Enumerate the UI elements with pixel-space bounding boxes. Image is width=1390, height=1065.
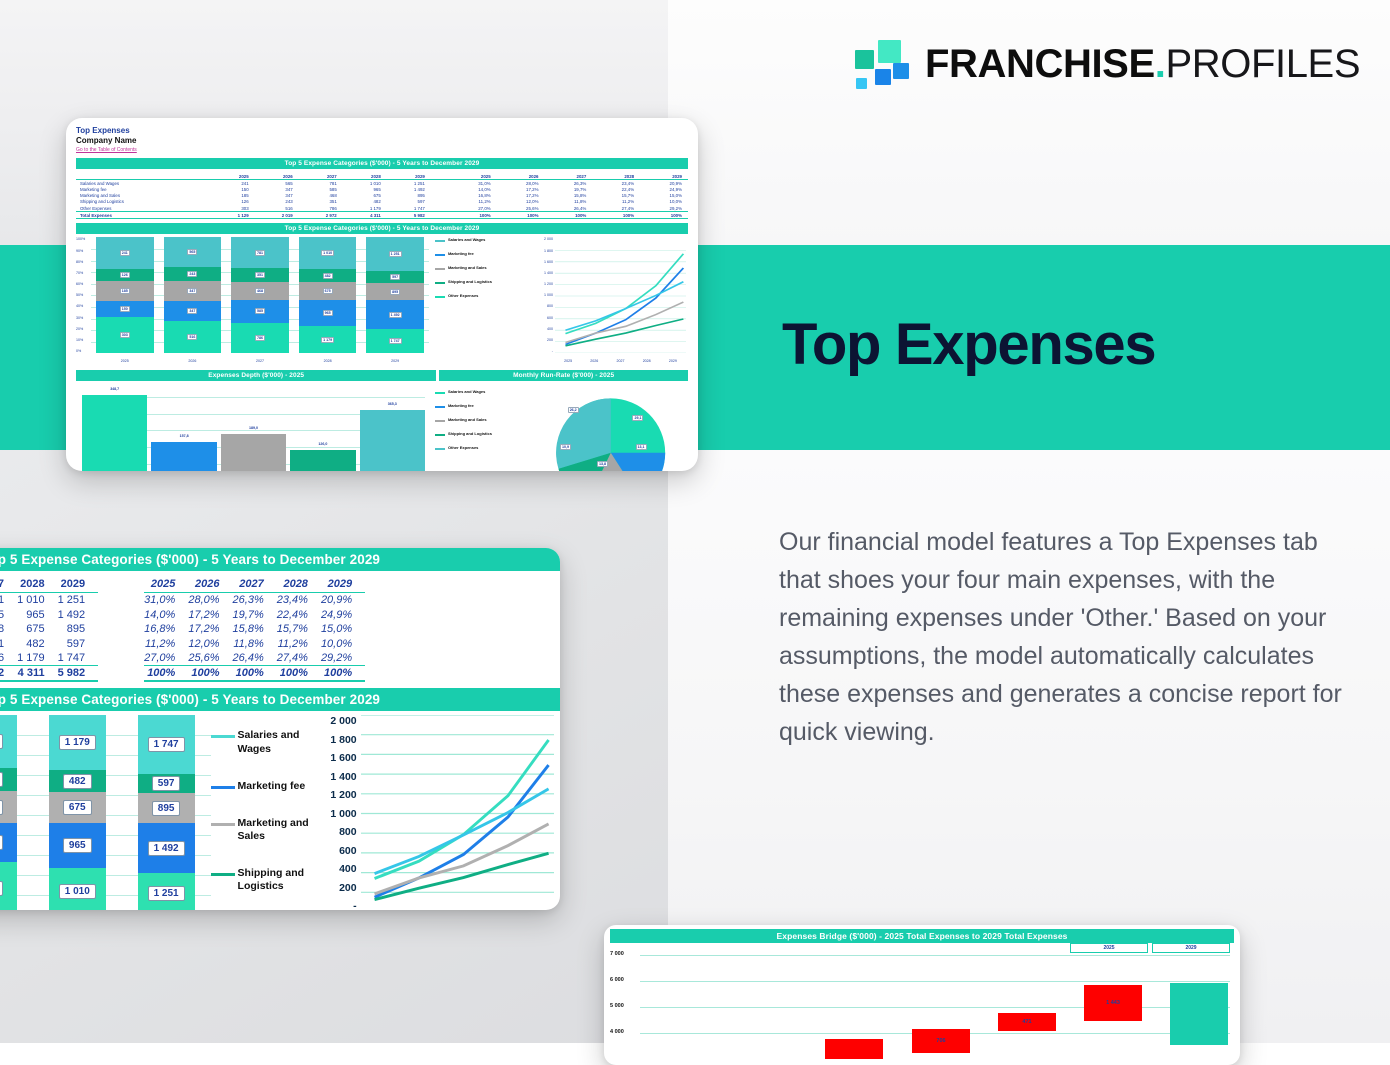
chart-expenses-depth[interactable]: 348,7 157,8 189,0 126,0 365,3 — [76, 383, 431, 471]
pie-value: 26,2 — [568, 407, 579, 413]
table-row: 347468675895 — [0, 622, 98, 636]
segment-value: 597 — [152, 776, 181, 791]
ytick: 70% — [76, 271, 90, 275]
segment-value: 468 — [0, 800, 3, 815]
legend-item[interactable]: Marketing fee — [435, 403, 534, 408]
xtick: 2026 — [581, 359, 607, 363]
segment-value: 1 179 — [321, 337, 334, 343]
ytick: 1 800 — [330, 734, 356, 746]
stacked-bar-column[interactable]: 786 351 468 585 781 — [0, 715, 33, 910]
pie-value: 13,8 — [597, 461, 608, 467]
segment-value: 482 — [323, 273, 333, 279]
segment-value: 781 — [0, 881, 3, 896]
table-row: Other Expenses 303 516 786 1 179 1 747 2… — [76, 205, 688, 212]
ytick: 40% — [76, 304, 90, 308]
legend-item[interactable]: Marketing and Sales — [435, 265, 535, 270]
bar-value: 706 — [912, 1029, 970, 1053]
waterfall-bar[interactable] — [825, 1039, 883, 1059]
stacked-bar-column[interactable]: 241 126 185 150 303 — [91, 237, 159, 353]
segment-value: 1 179 — [59, 735, 96, 750]
waterfall-bar[interactable]: 471 — [998, 1013, 1056, 1031]
bar-value: 471 — [998, 1013, 1056, 1031]
col-2029: 2029 — [58, 577, 99, 593]
segment-value: 675 — [323, 288, 333, 294]
page-title: Top Expenses — [782, 316, 1155, 374]
segment-value: 185 — [120, 288, 130, 294]
xtick: 2025 — [555, 359, 581, 363]
segment-value: 468 — [255, 288, 265, 294]
chart-stacked-percent[interactable]: 100% 90% 80% 70% 60% 50% 40% 30% 20% 10%… — [76, 237, 431, 363]
pct-col-2025: 2025 — [449, 173, 497, 180]
waterfall-bar[interactable]: 706 — [912, 1029, 970, 1053]
legend-item[interactable]: Salaries and Wages — [435, 389, 534, 394]
legend-item[interactable]: Marketing and Sales — [435, 417, 534, 422]
dashboard-screenshot-waterfall[interactable]: Expenses Bridge ($'000) - 2025 Total Exp… — [604, 925, 1240, 1065]
pie-value: 29,1 — [632, 415, 643, 421]
page-description: Our financial model features a Top Expen… — [779, 523, 1349, 751]
stacked-bar-column[interactable]: 565 243 347 347 516 — [159, 237, 227, 353]
legend-swatch-icon — [435, 296, 445, 298]
legend-item[interactable]: Shipping and Logistics — [435, 279, 535, 284]
pie-value: 13,1 — [636, 444, 647, 450]
table-header-row: 2025 2026 2027 2028 2029 — [144, 577, 365, 593]
waterfall-bar[interactable]: 1 443 — [1084, 985, 1142, 1021]
pct-col-2026: 2026 — [497, 173, 545, 180]
legend-label: Shipping and Logistics — [238, 867, 317, 893]
xtick: 2025 — [91, 359, 159, 363]
bar-value: 126,0 — [290, 442, 355, 446]
segment-value: 347 — [187, 308, 197, 314]
sheet-a-title: Top Expenses — [76, 126, 688, 136]
bar-value: 189,0 — [221, 426, 286, 430]
col-2029: 2029 — [321, 577, 365, 593]
segment-value: 895 — [152, 801, 181, 816]
ytick: 800 — [339, 826, 357, 838]
dashboard-screenshot-detail[interactable]: Top 5 Expense Categories ($'000) - 5 Yea… — [0, 548, 560, 910]
segment-value: 126 — [120, 272, 130, 278]
segment-value: 351 — [255, 272, 265, 278]
col-2028: 2028 — [277, 577, 321, 593]
legend-label: Marketing and Sales — [238, 817, 317, 843]
col-2027: 2027 — [233, 577, 277, 593]
col-2027: 2027 — [299, 173, 343, 180]
ytick: 5 000 — [610, 1003, 624, 1009]
table-total-row: Total Expenses 1 129 2 019 2 972 4 311 5… — [76, 212, 688, 219]
xtick: 2028 — [634, 359, 660, 363]
table-row: 5167861 1791 747 — [0, 651, 98, 666]
ytick: 7 000 — [610, 951, 624, 957]
depth-bar[interactable]: 157,8 — [151, 442, 216, 471]
segment-value: 965 — [63, 838, 92, 853]
segment-value: 1 251 — [389, 251, 402, 257]
legend-swatch-icon — [435, 282, 445, 284]
legend-label: Shipping and Logistics — [448, 279, 492, 284]
sheet-b-tables: 2026 2027 2028 2029 5657811 0101 251 347… — [0, 571, 560, 684]
waterfall-bar-total[interactable] — [1170, 983, 1228, 1045]
legend-item[interactable]: Shipping and Logistics — [435, 431, 534, 436]
legend-item[interactable]: Marketing and Sales — [211, 817, 317, 843]
bar-value: 348,7 — [82, 387, 147, 391]
sheet-a-banner-1: Top 5 Expense Categories ($'000) - 5 Yea… — [76, 158, 688, 169]
ytick: 90% — [76, 249, 90, 253]
legend-item[interactable]: Other Expenses — [435, 293, 535, 298]
stacked-bar-column[interactable]: 1 179 482 675 965 1 010 — [33, 715, 122, 910]
logo-square-blue-mid — [875, 69, 891, 85]
segment-value: 965 — [323, 310, 333, 316]
table-header-row: 2026 2027 2028 2029 — [0, 577, 98, 593]
line-chart-detail-svg — [361, 715, 554, 910]
logo-dot: . — [1155, 42, 1166, 86]
col-2029: 2029 — [387, 173, 431, 180]
legend-swatch-icon — [435, 392, 445, 394]
ytick: 20% — [76, 327, 90, 331]
background-top-left — [0, 0, 668, 120]
sheet-a-subtitle: Company Name — [76, 136, 688, 146]
dashboard-screenshot-overview[interactable]: Top Expenses Company Name Go to the Tabl… — [66, 118, 698, 471]
brand-logo[interactable]: FRANCHISE.PROFILES — [851, 38, 1360, 90]
logo-wordmark: FRANCHISE.PROFILES — [925, 42, 1360, 87]
stacked-bar-column[interactable]: 1 747 597 895 1 492 1 251 — [122, 715, 211, 910]
segment-value: 1 010 — [59, 884, 96, 899]
legend-label: Marketing fee — [448, 251, 474, 256]
ytick: 600 — [547, 316, 553, 320]
segment-value: 781 — [255, 250, 265, 256]
segment-value: 1 010 — [321, 250, 334, 256]
stacked-bar-column[interactable]: 1 010 482 675 965 1 179 — [294, 237, 362, 353]
table-row: 16,8%17,2%15,8%15,7%15,0% — [144, 622, 365, 636]
col-2025: 2025 — [144, 577, 188, 593]
legend-label: Marketing and Sales — [448, 265, 487, 270]
xtick: 2027 — [226, 359, 294, 363]
stacked-bar-column[interactable]: 781 351 468 585 786 — [226, 237, 294, 353]
table-row: 31,0%28,0%26,3%23,4%20,9% — [144, 593, 365, 608]
ytick: 0% — [76, 349, 90, 353]
segment-value: 482 — [63, 774, 92, 789]
sheet-a-lower-charts: 348,7 157,8 189,0 126,0 365,3 Salaries a… — [76, 383, 688, 471]
legend-swatch-icon — [435, 406, 445, 408]
legend-swatch-icon — [435, 448, 445, 450]
sheet-b-chart-row: 786 351 468 585 781 1 179 482 675 965 1 … — [0, 711, 560, 910]
xtick: 2028 — [294, 359, 362, 363]
legend-swatch-icon — [211, 735, 235, 738]
depth-bar[interactable]: 365,3 — [360, 410, 425, 471]
chart-legend-detail: Salaries and Wages Marketing fee Marketi… — [211, 711, 317, 910]
waterfall-plot[interactable]: 7 000 6 000 5 000 4 000 706 471 1 443 — [610, 947, 1234, 1043]
table-header-row: 2025 2026 2027 2028 2029 2025 2026 2027 … — [76, 173, 688, 180]
sheet-a-toc-link[interactable]: Go to the Table of Contents — [76, 147, 688, 153]
ytick: 1 200 — [544, 282, 553, 286]
table-row: 27,0%25,6%26,4%27,4%29,2% — [144, 651, 365, 666]
segment-value: 243 — [187, 271, 197, 277]
segment-value: 1 747 — [389, 338, 402, 344]
segment-value: 150 — [120, 306, 130, 312]
legend-item[interactable]: Marketing fee — [211, 780, 317, 793]
segment-value: 786 — [255, 335, 265, 341]
legend-swatch-icon — [211, 873, 235, 876]
ytick: 1 800 — [544, 249, 553, 253]
sheet-b-values-table: 2026 2027 2028 2029 5657811 0101 251 347… — [0, 577, 98, 682]
logo-word-franchise: FRANCHISE — [925, 42, 1155, 86]
ytick: 400 — [547, 327, 553, 331]
ytick: 6 000 — [610, 977, 624, 983]
pct-col-2029: 2029 — [640, 173, 688, 180]
ytick: 100% — [76, 237, 90, 241]
table-row: 243351482597 — [0, 636, 98, 650]
sheet-a-table: 2025 2026 2027 2028 2029 2025 2026 2027 … — [76, 173, 688, 219]
col-2027: 2027 — [0, 577, 17, 593]
ytick: 10% — [76, 338, 90, 342]
col-2025: 2025 — [211, 173, 255, 180]
ytick: 1 600 — [544, 260, 553, 264]
line-chart-svg — [555, 239, 686, 353]
bar-value: 365,3 — [360, 402, 425, 406]
legend-label: Salaries and Wages — [448, 237, 485, 242]
legend-item[interactable]: Salaries and Wages — [211, 729, 317, 755]
col-2026: 2026 — [255, 173, 299, 180]
legend-label: Shipping and Logistics — [448, 431, 492, 436]
segment-value: 1 747 — [148, 737, 185, 752]
table-row: Salaries and Wages 241 565 781 1 010 1 2… — [76, 180, 688, 187]
sheet-b-percent-table: 2025 2026 2027 2028 2029 31,0%28,0%26,3%… — [144, 577, 365, 682]
table-row: 5657811 0101 251 — [0, 593, 98, 608]
ytick: 1 200 — [330, 789, 356, 801]
sheet-a-banner-runrate: Monthly Run-Rate ($'000) - 2025 — [439, 370, 688, 381]
bar-value: 1 443 — [1084, 985, 1142, 1021]
ytick: 1 400 — [544, 271, 553, 275]
depth-bar[interactable]: 126,0 — [290, 450, 355, 471]
table-row: 14,0%17,2%19,7%22,4%24,9% — [144, 608, 365, 622]
chart-line-trend[interactable]: 2 000 1 800 1 600 1 400 1 200 1 000 800 … — [535, 237, 688, 363]
ytick: 2 000 — [330, 715, 356, 727]
col-2026: 2026 — [188, 577, 232, 593]
ytick: 1 600 — [330, 752, 356, 764]
segment-value: 895 — [390, 289, 400, 295]
logo-square-cyan-small — [856, 78, 867, 89]
xtick: 2029 — [361, 359, 429, 363]
ytick: 1 000 — [330, 808, 356, 820]
legend-item[interactable]: Shipping and Logistics — [211, 867, 317, 893]
depth-bar[interactable]: 348,7 — [82, 395, 147, 471]
logo-mark-icon — [851, 38, 907, 90]
ytick: - — [552, 349, 553, 353]
legend-item[interactable]: Marketing fee — [435, 251, 535, 256]
segment-value: 347 — [187, 288, 197, 294]
chart-monthly-runrate[interactable]: Salaries and Wages Marketing fee Marketi… — [431, 383, 688, 471]
col-2028: 2028 — [17, 577, 58, 593]
segment-value: 585 — [0, 835, 3, 850]
legend-swatch-icon — [211, 823, 235, 826]
legend-swatch-icon — [435, 254, 445, 256]
sheet-b-banner-2: Top 5 Expense Categories ($'000) - 5 Yea… — [0, 688, 560, 711]
bar-value: 157,8 — [151, 434, 216, 438]
segment-value: 241 — [120, 250, 130, 256]
logo-square-teal-dark — [855, 50, 874, 69]
logo-word-profiles: PROFILES — [1165, 42, 1360, 86]
ytick: 30% — [76, 316, 90, 320]
sheet-a-chart-row: 100% 90% 80% 70% 60% 50% 40% 30% 20% 10%… — [76, 237, 688, 363]
pie-value: 10,9 — [560, 444, 571, 450]
legend-swatch-icon — [435, 268, 445, 270]
segment-value: 1 492 — [389, 312, 402, 318]
ytick: - — [353, 900, 357, 910]
xtick: 2029 — [660, 359, 686, 363]
table-row: 11,2%12,0%11,8%11,2%10,0% — [144, 636, 365, 650]
ytick: 80% — [76, 260, 90, 264]
ytick: 50% — [76, 293, 90, 297]
segment-value: 303 — [120, 332, 130, 338]
segment-value: 1 251 — [148, 886, 185, 901]
chart-stacked-detail[interactable]: 786 351 468 585 781 1 179 482 675 965 1 … — [0, 711, 211, 910]
chart-legend: Salaries and Wages Marketing fee Marketi… — [431, 237, 535, 363]
segment-value: 675 — [63, 800, 92, 815]
chart-line-detail[interactable]: 2 000 1 800 1 600 1 400 1 200 1 000 800 … — [317, 711, 560, 910]
legend-swatch-icon — [435, 420, 445, 422]
legend-label: Marketing fee — [238, 780, 306, 793]
sheet-b-banner-1: Top 5 Expense Categories ($'000) - 5 Yea… — [0, 548, 560, 571]
legend-item[interactable]: Salaries and Wages — [435, 237, 535, 242]
table-total-row: 100%100%100%100%100% — [144, 666, 365, 682]
table-total-row: 2 0192 9724 3115 982 — [0, 666, 98, 682]
segment-value: 585 — [255, 308, 265, 314]
ytick: 800 — [547, 304, 553, 308]
legend-swatch-icon — [211, 786, 235, 789]
col-2028: 2028 — [343, 173, 387, 180]
stacked-bar-column[interactable]: 1 251 597 895 1 492 1 747 — [361, 237, 429, 353]
segment-value: 351 — [0, 772, 3, 787]
pct-col-2028: 2028 — [592, 173, 640, 180]
ytick: 1 400 — [330, 771, 356, 783]
ytick: 4 000 — [610, 1029, 624, 1035]
ytick: 600 — [339, 845, 357, 857]
pct-col-2027: 2027 — [544, 173, 592, 180]
segment-value: 516 — [187, 334, 197, 340]
ytick: 1 000 — [544, 293, 553, 297]
segment-value: 1 492 — [148, 841, 185, 856]
table-row: 3475859651 492 — [0, 608, 98, 622]
logo-square-blue-bright — [893, 63, 909, 79]
sheet-a-banner-depth: Expenses Depth ($'000) - 2025 — [76, 370, 436, 381]
pie-chart-svg — [546, 388, 676, 471]
ytick: 2 000 — [544, 237, 553, 241]
legend-label: Salaries and Wages — [448, 389, 485, 394]
legend-label: Other Expenses — [448, 293, 478, 298]
ytick: 400 — [339, 863, 357, 875]
xtick: 2026 — [159, 359, 227, 363]
sheet-c-banner: Expenses Bridge ($'000) - 2025 Total Exp… — [610, 929, 1234, 943]
legend-label: Marketing and Sales — [448, 417, 487, 422]
legend-label: Salaries and Wages — [238, 729, 317, 755]
ytick: 60% — [76, 282, 90, 286]
legend-swatch-icon — [435, 240, 445, 242]
segment-value: 565 — [187, 249, 197, 255]
legend-item[interactable]: Other Expenses — [435, 445, 534, 450]
xtick: 2027 — [607, 359, 633, 363]
segment-value: 786 — [0, 734, 3, 749]
legend-label: Marketing fee — [448, 403, 474, 408]
depth-bar[interactable]: 189,0 — [221, 434, 286, 471]
segment-value: 597 — [390, 274, 400, 280]
legend-label: Other Expenses — [448, 445, 478, 450]
sheet-a-banner-2: Top 5 Expense Categories ($'000) - 5 Yea… — [76, 223, 688, 234]
legend-swatch-icon — [435, 434, 445, 436]
ytick: 200 — [547, 338, 553, 342]
ytick: 200 — [339, 882, 357, 894]
logo-square-teal-light — [878, 40, 901, 63]
